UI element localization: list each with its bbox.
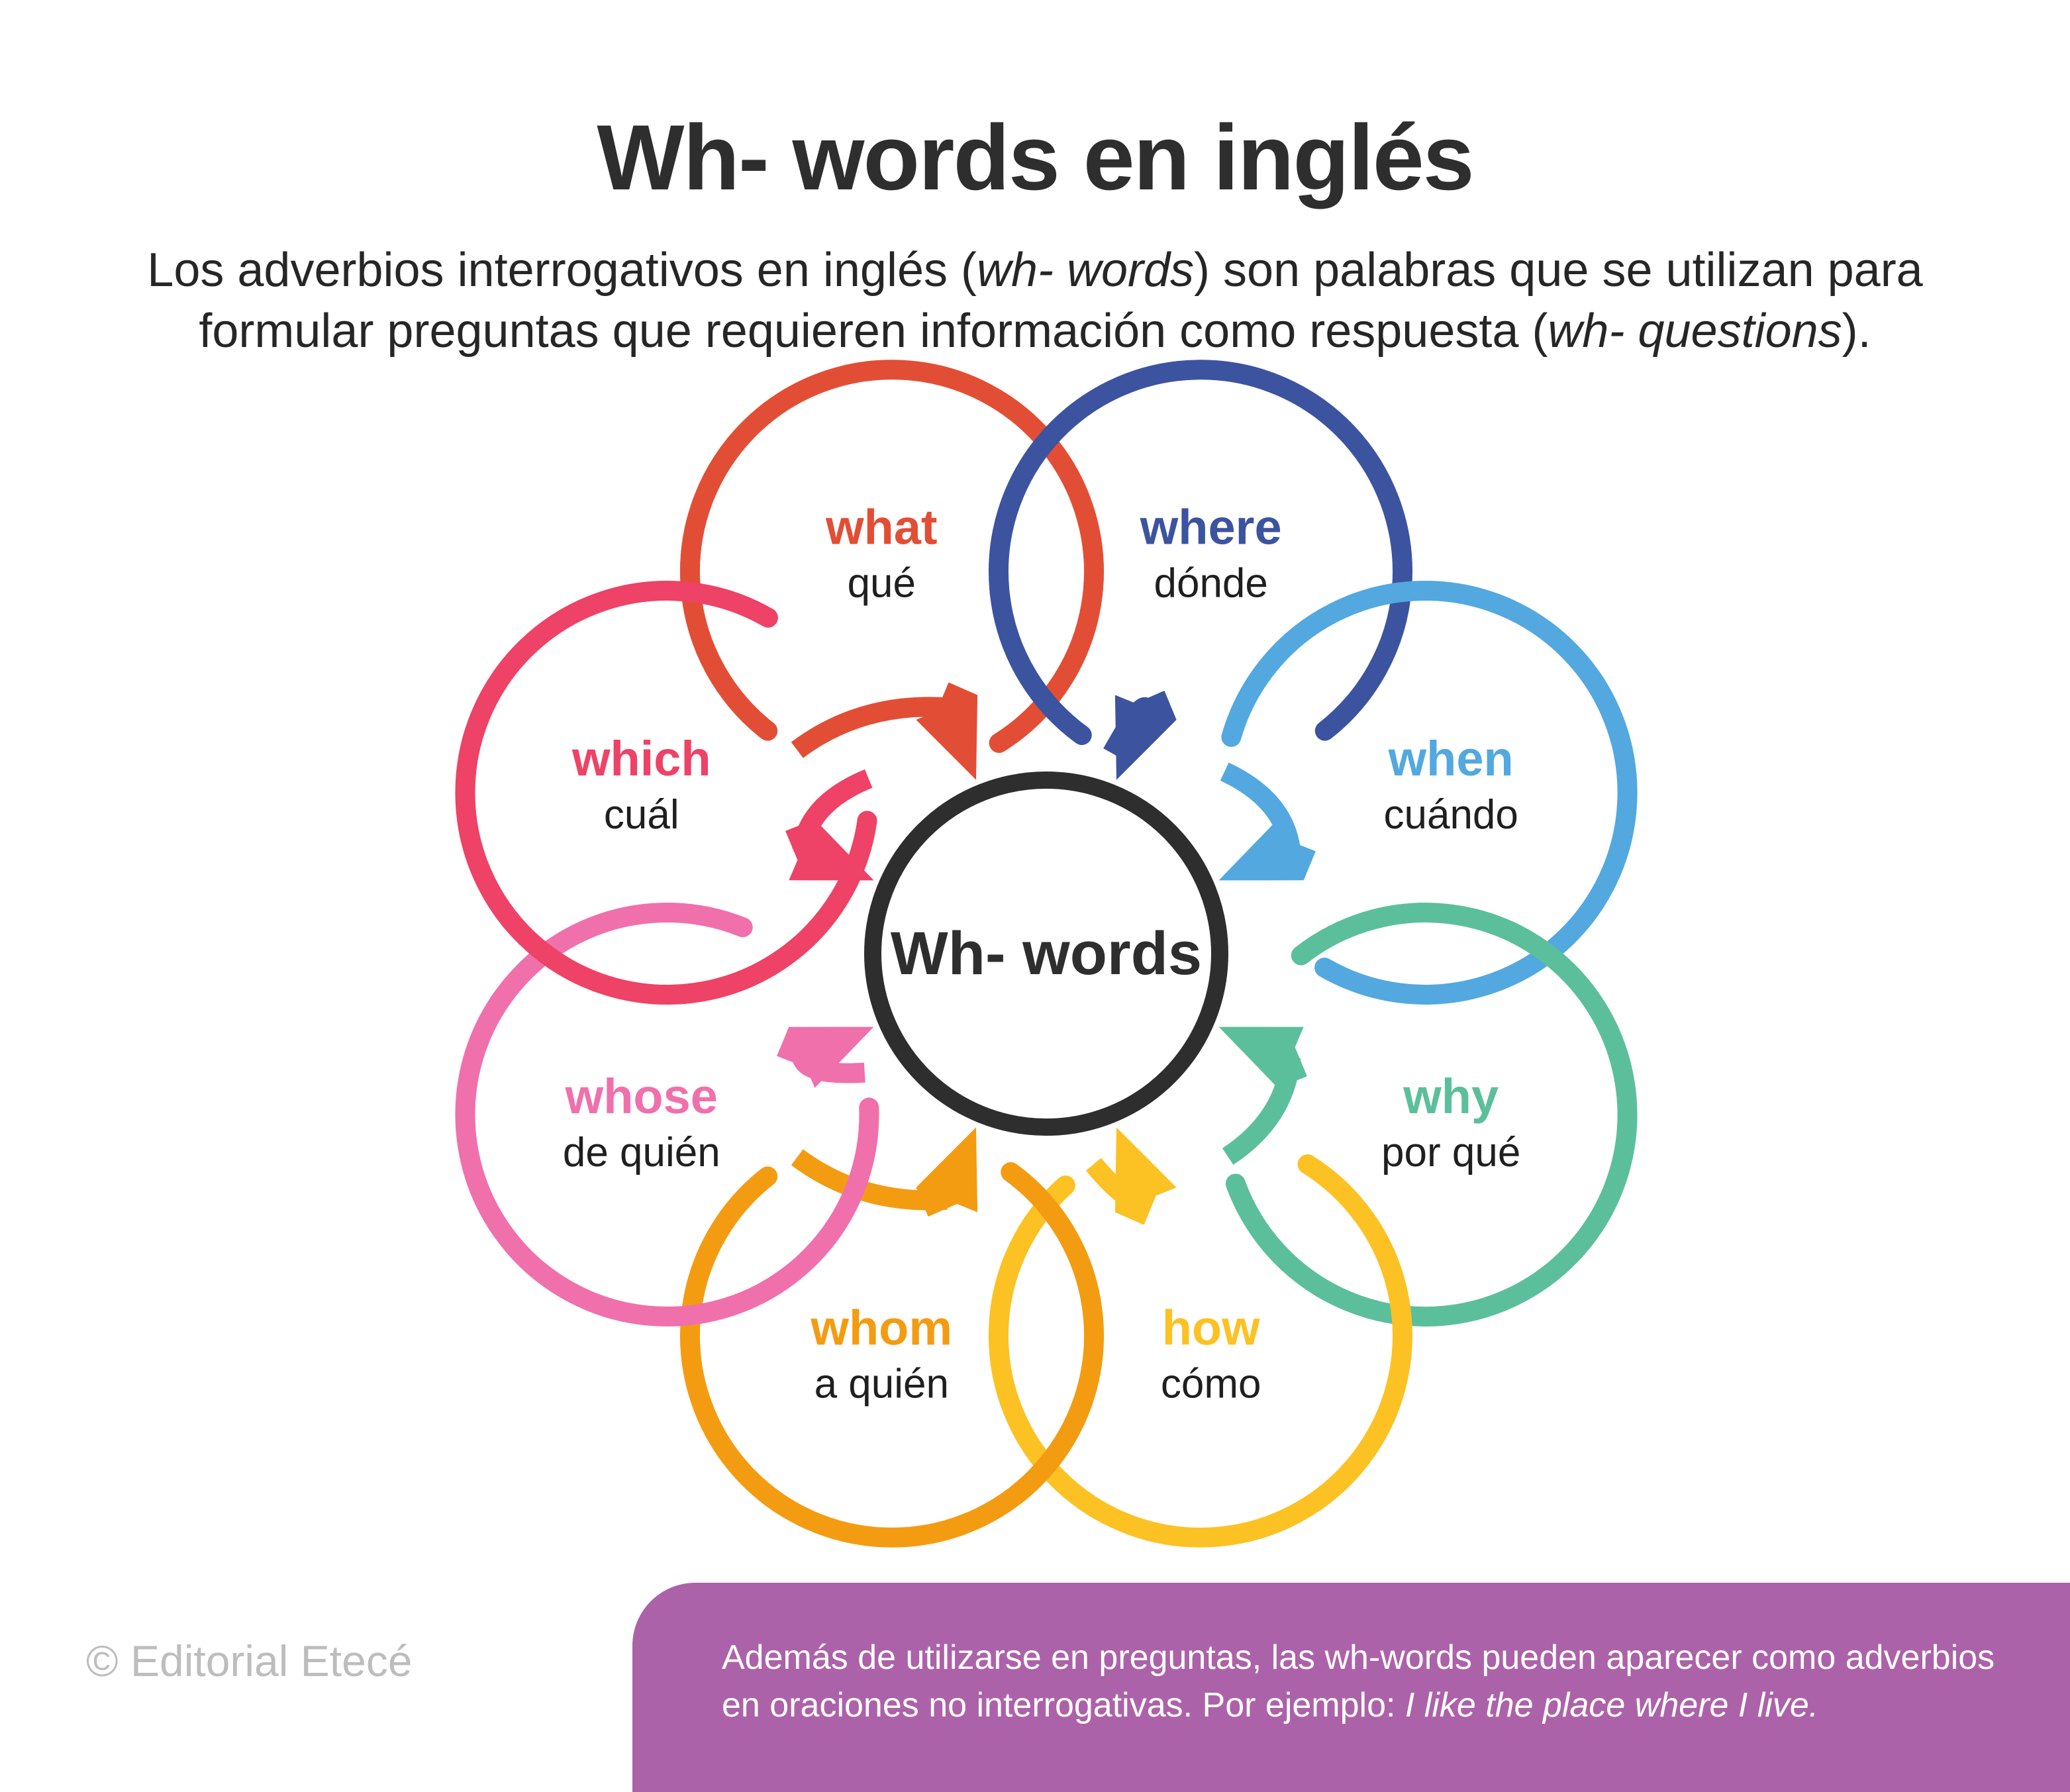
center-label: Wh- words [891,920,1202,987]
petal-where[interactable]: wheredónde [999,370,1403,779]
petal-connector-what [797,707,947,750]
petal-label-en-why: why [1403,1069,1499,1124]
petal-what[interactable]: whatqué [690,370,1094,779]
petal-label-en-where: where [1140,500,1282,555]
petal-arrow-when [1219,819,1316,880]
copyright-credit: © Editorial Etecé [86,1636,413,1686]
petal-why[interactable]: whypor qué [1219,913,1628,1317]
petal-label-en-when: when [1388,731,1514,786]
petal-whose[interactable]: whosede quién [465,913,873,1317]
infographic-page: Wh- words en inglés Los adverbios interr… [0,0,2070,1792]
footer-note-text: Además de utilizarse en preguntas, las w… [722,1634,2010,1730]
petal-arrow-where [1115,691,1177,780]
petal-label-en-which: which [571,731,711,786]
footer-note-banner: Además de utilizarse en preguntas, las w… [632,1583,2070,1792]
petal-label-es-how: cómo [1161,1362,1261,1407]
petal-which[interactable]: whichcuál [465,591,873,995]
petal-when[interactable]: whencuándo [1219,591,1628,995]
petal-label-es-why: por qué [1381,1130,1520,1175]
petal-label-es-what: qué [848,561,916,607]
petal-label-en-how: how [1162,1301,1260,1356]
diagram-svg: whatquéwheredóndewhencuándowhypor quéhow… [371,358,1722,1576]
petal-label-es-where: dónde [1154,561,1267,607]
petal-label-es-when: cuándo [1383,792,1518,838]
petal-label-es-whose: de quién [563,1130,720,1175]
petal-label-es-which: cuál [604,792,679,838]
petal-whom[interactable]: whoma quién [690,1127,1094,1537]
petal-label-en-whom: whom [810,1301,952,1356]
petal-label-es-whom: a quién [814,1362,949,1407]
core-layer: Wh- words [873,780,1220,1127]
petal-label-en-what: what [825,500,938,555]
petal-arrow-how [1115,1127,1177,1224]
petal-arrow-why [1219,1027,1307,1088]
petal-how[interactable]: howcómo [999,1127,1403,1537]
page-subtitle: Los adverbios interrogativos en inglés (… [98,240,1972,362]
petal-label-en-whose: whose [565,1069,718,1124]
page-title: Wh- words en inglés [0,109,2070,206]
wh-words-diagram: whatquéwheredóndewhencuándowhypor quéhow… [371,358,1722,1576]
petal-arrow-whom [916,1127,977,1217]
